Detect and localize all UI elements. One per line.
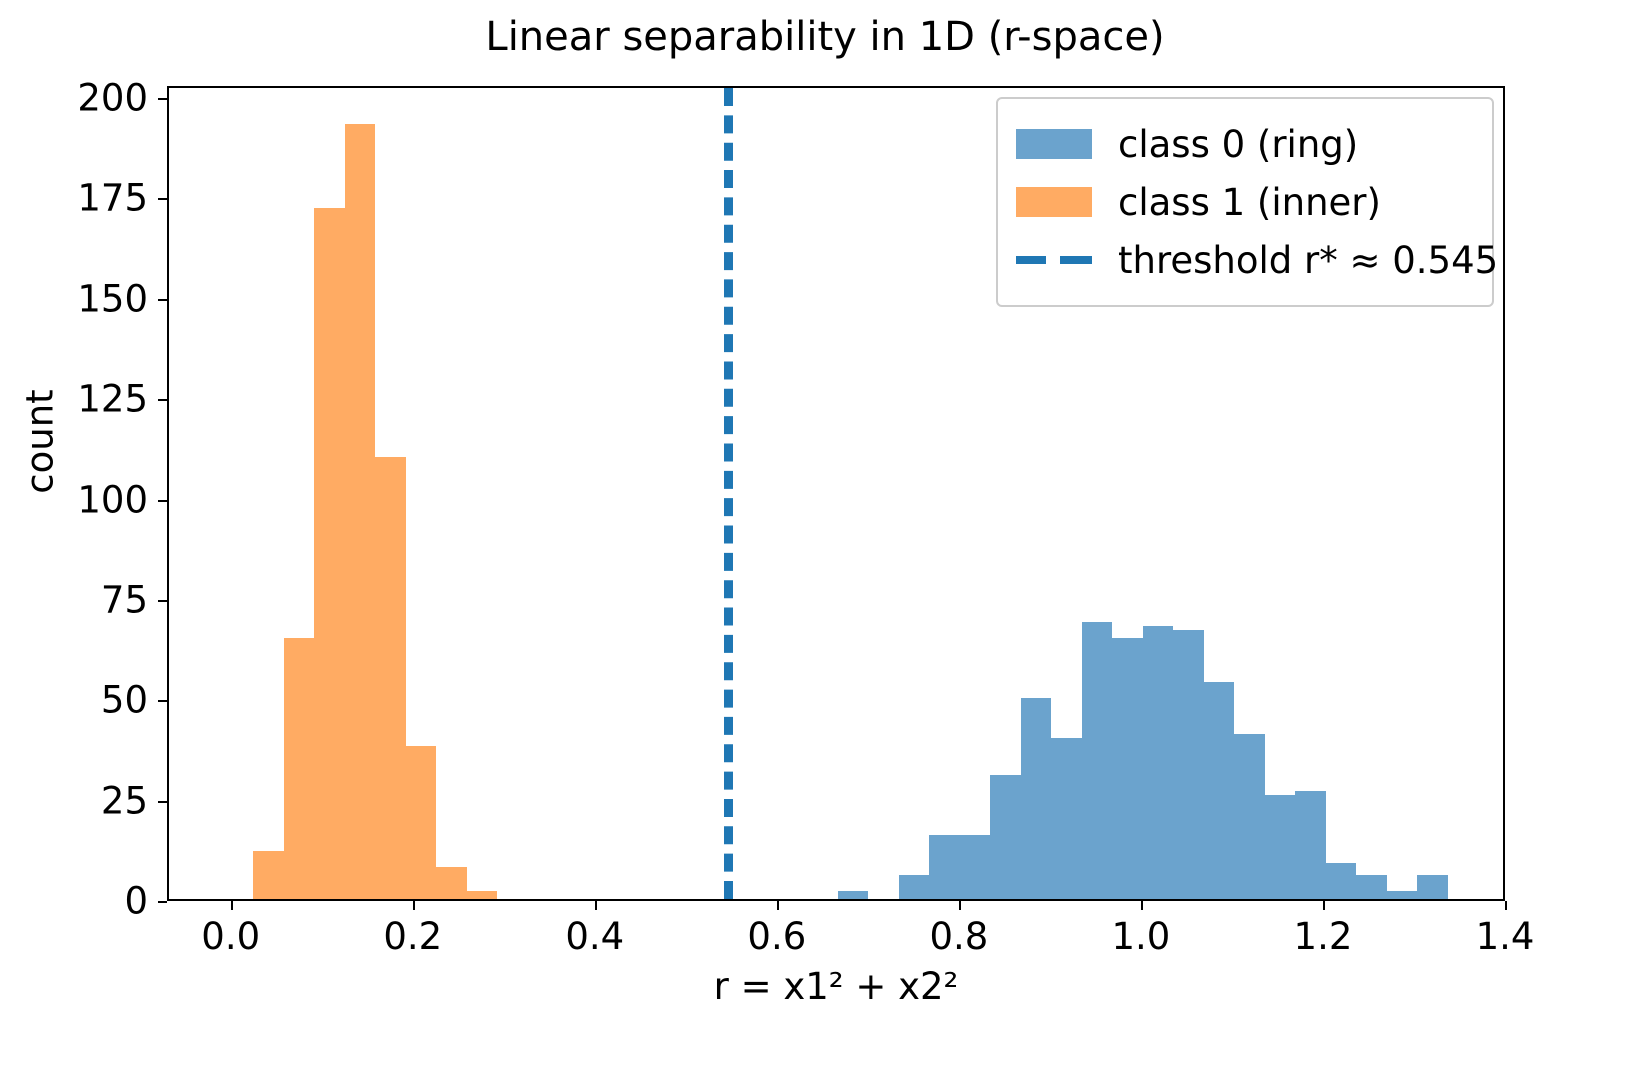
histogram-bar (1082, 622, 1112, 899)
histogram-bar (253, 851, 284, 899)
histogram-bar (345, 124, 375, 899)
histogram-bar (1143, 626, 1173, 899)
y-tick-mark (158, 700, 167, 702)
x-tick-mark (231, 901, 233, 910)
x-tick-label: 0.4 (565, 915, 624, 958)
legend-box: class 0 (ring) class 1 (inner) threshold… (996, 97, 1494, 307)
chart-title: Linear separability in 1D (r-space) (0, 14, 1650, 60)
y-tick-mark (158, 600, 167, 602)
x-tick-mark (413, 901, 415, 910)
x-tick-mark (1141, 901, 1143, 910)
histogram-bar (1387, 891, 1417, 899)
y-tick-mark (158, 98, 167, 100)
y-tick-mark (158, 399, 167, 401)
threshold-line (724, 88, 733, 899)
y-tick-mark (158, 198, 167, 200)
histogram-bar (1265, 795, 1295, 899)
histogram-bar (929, 835, 960, 899)
y-tick-mark (158, 901, 167, 903)
legend-swatch-class-1-icon (1016, 187, 1092, 217)
histogram-bar (1295, 791, 1326, 899)
x-tick-mark (959, 901, 961, 910)
x-tick-label: 0.6 (747, 915, 806, 958)
y-tick-label: 25 (0, 779, 148, 822)
histogram-bar (960, 835, 990, 899)
legend-swatch-class-0-icon (1016, 129, 1092, 159)
histogram-bar (1173, 630, 1204, 899)
legend-item-class-0: class 0 (ring) (1016, 115, 1474, 173)
histogram-bar (1112, 638, 1143, 899)
x-tick-mark (1323, 901, 1325, 910)
x-tick-label: 1.0 (1111, 915, 1170, 958)
y-tick-label: 50 (0, 679, 148, 722)
histogram-bar (899, 875, 929, 899)
figure-canvas: Linear separability in 1D (r-space) r = … (0, 0, 1650, 1091)
y-tick-mark (158, 299, 167, 301)
histogram-bar (1204, 682, 1234, 899)
y-tick-mark (158, 801, 167, 803)
y-tick-label: 75 (0, 578, 148, 621)
legend-dashed-line-icon (1016, 245, 1092, 275)
y-tick-label: 0 (0, 880, 148, 923)
histogram-bar (314, 208, 345, 899)
x-tick-label: 1.4 (1476, 915, 1535, 958)
histogram-bar (990, 775, 1021, 899)
y-tick-label: 150 (0, 277, 148, 320)
x-axis-label: r = x1² + x2² (167, 965, 1505, 1008)
legend-label-threshold: threshold r* ≈ 0.545 (1118, 239, 1498, 282)
legend-item-threshold: threshold r* ≈ 0.545 (1016, 231, 1474, 289)
x-tick-label: 0.0 (201, 915, 260, 958)
histogram-bar (1326, 863, 1356, 899)
histogram-bar (375, 457, 406, 899)
histogram-bar (406, 746, 436, 899)
y-tick-label: 200 (0, 77, 148, 120)
legend-label-class-0: class 0 (ring) (1118, 123, 1358, 166)
histogram-bar (1234, 734, 1265, 899)
y-tick-label: 175 (0, 177, 148, 220)
y-tick-label: 125 (0, 378, 148, 421)
histogram-bar (838, 891, 868, 899)
histogram-bar (1356, 875, 1387, 899)
histogram-bar (1051, 738, 1082, 899)
histogram-bar (1021, 698, 1051, 899)
x-tick-mark (1505, 901, 1507, 910)
histogram-bar (1417, 875, 1448, 899)
x-tick-label: 1.2 (1294, 915, 1353, 958)
y-tick-label: 100 (0, 478, 148, 521)
x-tick-mark (595, 901, 597, 910)
x-tick-mark (777, 901, 779, 910)
x-tick-label: 0.2 (383, 915, 442, 958)
y-tick-mark (158, 500, 167, 502)
x-tick-label: 0.8 (929, 915, 988, 958)
legend-label-class-1: class 1 (inner) (1118, 181, 1381, 224)
histogram-bar (436, 867, 467, 899)
legend-item-class-1: class 1 (inner) (1016, 173, 1474, 231)
histogram-bar (284, 638, 314, 899)
histogram-bar (467, 891, 497, 899)
